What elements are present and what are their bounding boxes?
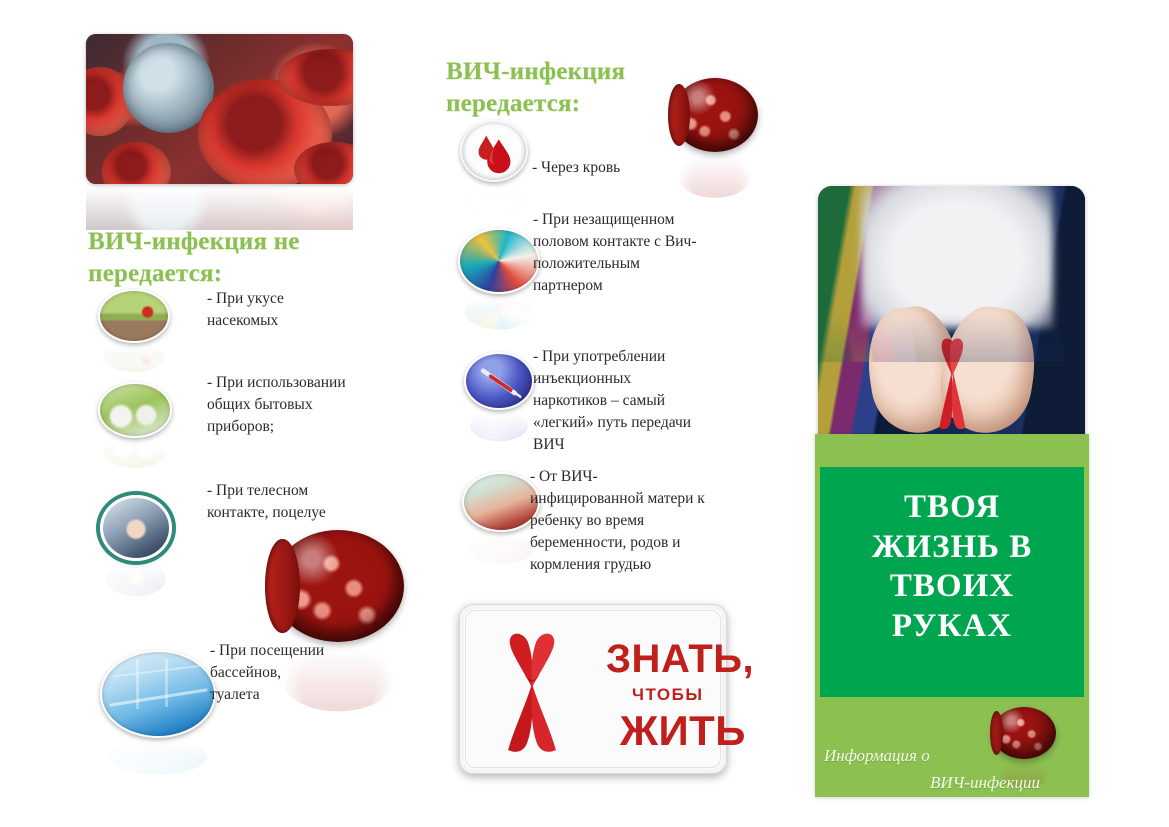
left-item-2-text: - При телесном контакте, поцелуе	[207, 480, 352, 524]
panel-title: ТВОЯ ЖИЗНЬ В ТВОИХ РУКАХ	[815, 488, 1089, 646]
middle-heading: ВИЧ-инфекция передается:	[446, 56, 676, 120]
condom-icon	[458, 228, 540, 294]
left-item-0-text: - При укусе насекомых	[207, 288, 337, 332]
know-to-live-poster: ЗНАТЬ, ЧТОБЫ ЖИТЬ	[459, 604, 727, 774]
blood-cells-scene	[86, 34, 353, 184]
left-item-1-text: - При использовании общих бытовых прибор…	[207, 372, 347, 438]
left-item-3-text: - При посещении бассейнов, туалета	[210, 640, 330, 706]
swimming-pool-icon	[100, 650, 216, 738]
hands-scene	[818, 186, 1085, 460]
hands-with-red-ribbon-photo	[818, 186, 1085, 460]
middle-item-2-text: - При употреблении инъекционных наркотик…	[533, 346, 708, 456]
middle-item-3-text: - От ВИЧ-инфицированной матери к ребенку…	[530, 466, 710, 576]
syringe-glyph	[466, 354, 532, 408]
handshake-icon	[100, 495, 172, 561]
middle-item-0-text: - Через кровь	[532, 157, 692, 179]
household-items-icon	[98, 382, 172, 438]
blood-cells-photo-reflection	[86, 184, 353, 230]
brochure-page: ВИЧ-инфекция не передается: - При укусе …	[0, 0, 1169, 827]
virus-sphere-left	[272, 530, 404, 642]
poster-line-3: ЖИТЬ	[620, 707, 746, 755]
left-heading: ВИЧ-инфекция не передается:	[88, 226, 350, 290]
insect-bite-icon	[98, 289, 170, 343]
poster-line-1: ЗНАТЬ,	[606, 637, 754, 682]
blood-drop-glyph	[462, 122, 526, 180]
mother-child-icon	[462, 472, 540, 532]
blood-drop-icon	[460, 120, 528, 182]
virus-sphere-panel	[992, 707, 1056, 759]
panel-caption-line-1: Информация о	[824, 743, 930, 769]
blood-cells-photo	[86, 34, 353, 184]
virus-sphere-middle-top	[672, 78, 758, 152]
green-panel: ТВОЯ ЖИЗНЬ В ТВОИХ РУКАХ Информация о ВИ…	[815, 434, 1089, 797]
red-ribbon-icon	[476, 623, 588, 761]
panel-caption-line-2: ВИЧ-инфекции	[930, 770, 1040, 796]
red-ribbon-icon	[935, 328, 970, 438]
middle-item-1-text: - При незащищенном половом контакте с Ви…	[533, 209, 708, 297]
poster-line-2: ЧТОБЫ	[632, 685, 704, 705]
syringe-icon	[464, 352, 534, 410]
doctor-coat	[861, 186, 1053, 328]
